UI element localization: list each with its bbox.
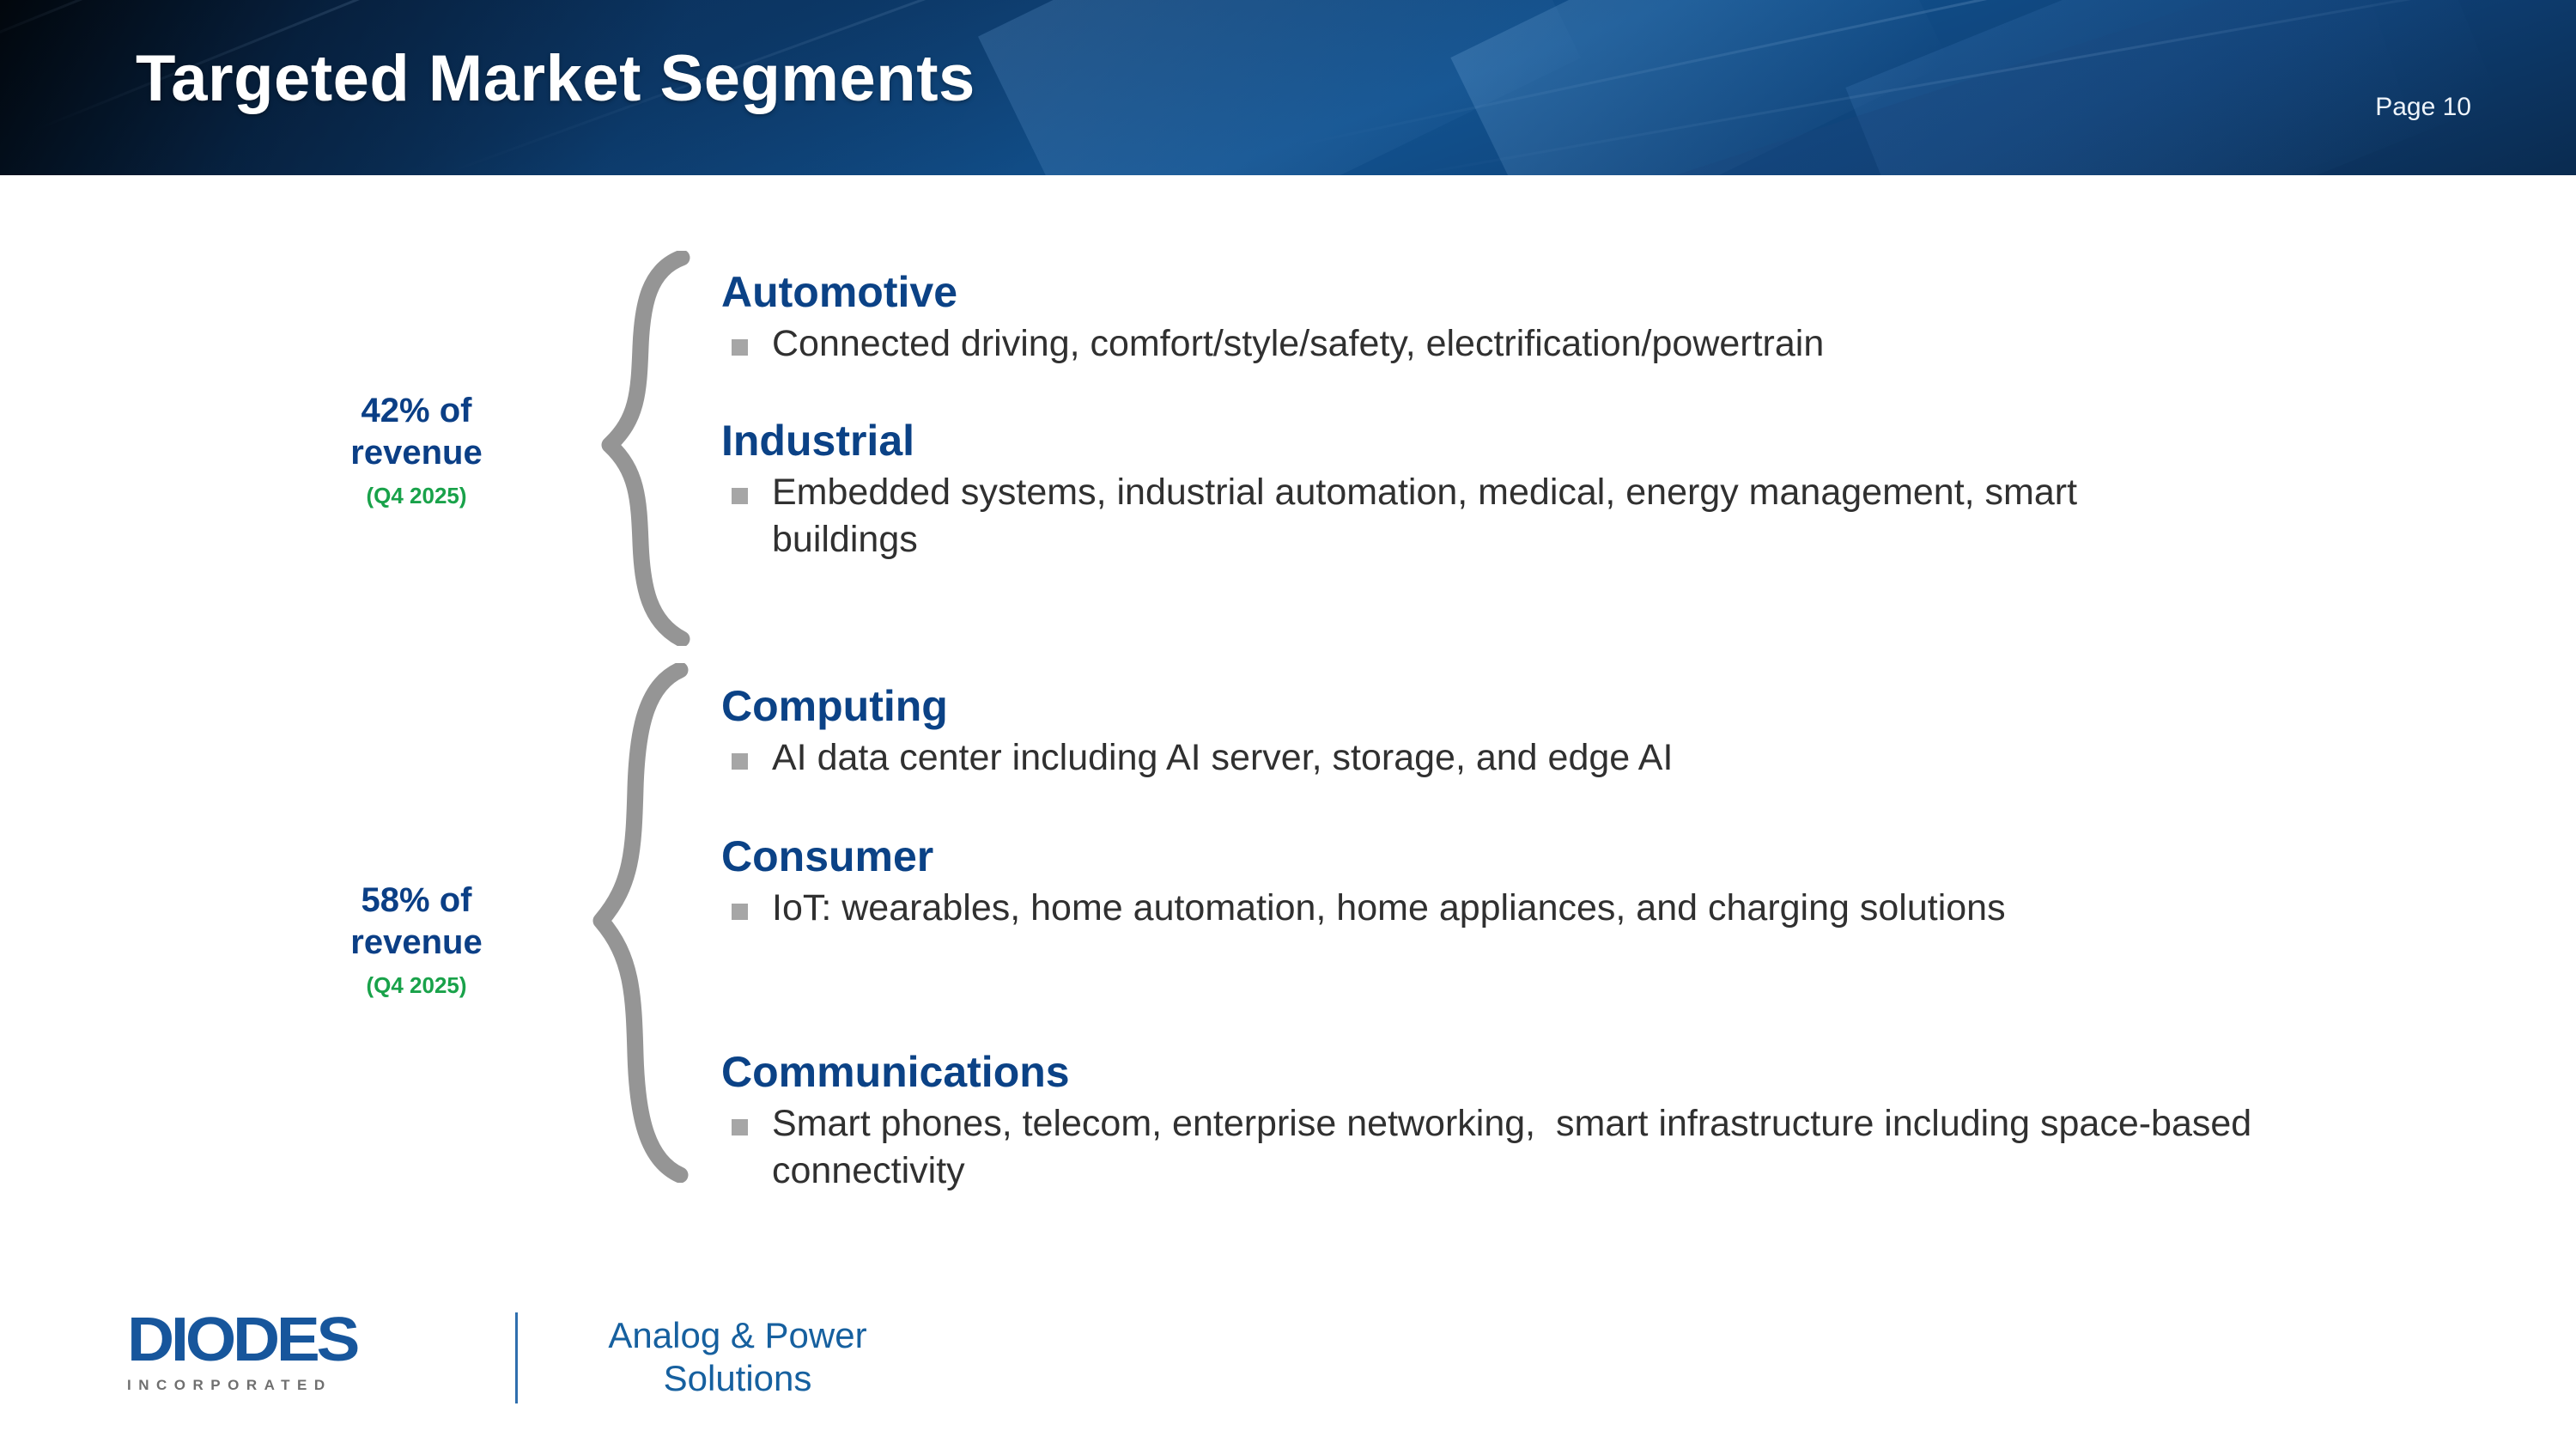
segment-computing: Computing AI data center including AI se… bbox=[721, 684, 2456, 794]
slide-body: 42% of revenue (Q4 2025) 58% of revenue … bbox=[0, 175, 2576, 1283]
segment-industrial-bullet: Embedded systems, industrial automation,… bbox=[721, 469, 2456, 563]
diodes-logo-wordmark: DIODES bbox=[127, 1311, 509, 1370]
revenue-group-2-percent: 58% of bbox=[262, 880, 571, 922]
curly-brace-icon bbox=[592, 251, 696, 646]
segment-automotive-heading: Automotive bbox=[721, 270, 2456, 315]
curly-brace-icon bbox=[584, 663, 696, 1183]
diodes-logo: DIODES INCORPORATED bbox=[127, 1311, 488, 1394]
segment-consumer: Consumer IoT: wearables, home automation… bbox=[721, 834, 2456, 944]
square-bullet-icon bbox=[732, 904, 748, 920]
segment-automotive-bullet: Connected driving, comfort/style/safety,… bbox=[721, 320, 2456, 368]
header-decor-panel-3 bbox=[1845, 0, 2499, 175]
page-number-label: Page 10 bbox=[2375, 93, 2471, 122]
company-tagline-line1: Analog & Power bbox=[553, 1314, 922, 1357]
segment-industrial: Industrial Embedded systems, industrial … bbox=[721, 418, 2456, 575]
revenue-group-1-percent: 42% of bbox=[262, 390, 571, 432]
header-decor-panel-2 bbox=[1450, 0, 1949, 175]
segment-industrial-bullet-text: Embedded systems, industrial automation,… bbox=[772, 469, 2172, 563]
revenue-group-2-percent-line2: revenue bbox=[262, 922, 571, 964]
square-bullet-icon bbox=[732, 339, 748, 356]
segment-computing-bullet: AI data center including AI server, stor… bbox=[721, 734, 2456, 782]
segment-communications: Communications Smart phones, telecom, en… bbox=[721, 1050, 2456, 1207]
revenue-group-2-label: 58% of revenue (Q4 2025) bbox=[262, 880, 571, 999]
segment-automotive-bullet-text: Connected driving, comfort/style/safety,… bbox=[772, 320, 2456, 368]
segment-communications-bullet-text: Smart phones, telecom, enterprise networ… bbox=[772, 1100, 2386, 1195]
square-bullet-icon bbox=[732, 488, 748, 504]
page-title: Targeted Market Segments bbox=[136, 41, 975, 116]
footer-divider bbox=[515, 1312, 518, 1403]
segment-computing-bullet-text: AI data center including AI server, stor… bbox=[772, 734, 2456, 782]
company-tagline: Analog & Power Solutions bbox=[553, 1314, 922, 1399]
header-decor-panel-1 bbox=[978, 0, 1581, 175]
revenue-group-1-label: 42% of revenue (Q4 2025) bbox=[262, 390, 571, 509]
segment-consumer-heading: Consumer bbox=[721, 834, 2456, 880]
segment-industrial-heading: Industrial bbox=[721, 418, 2456, 464]
segment-computing-heading: Computing bbox=[721, 684, 2456, 729]
revenue-group-2-quarter: (Q4 2025) bbox=[262, 972, 571, 999]
segment-communications-heading: Communications bbox=[721, 1050, 2456, 1095]
header-decor-panel-4 bbox=[1621, 0, 2415, 175]
header-decor-streak-5 bbox=[1374, 0, 2576, 175]
segment-consumer-bullet-text: IoT: wearables, home automation, home ap… bbox=[772, 885, 2326, 932]
company-tagline-line2: Solutions bbox=[553, 1357, 922, 1400]
segment-automotive: Automotive Connected driving, comfort/st… bbox=[721, 270, 2456, 380]
square-bullet-icon bbox=[732, 1119, 748, 1135]
segment-communications-bullet: Smart phones, telecom, enterprise networ… bbox=[721, 1100, 2456, 1195]
slide-header-banner: Targeted Market Segments Page 10 bbox=[0, 0, 2576, 175]
square-bullet-icon bbox=[732, 753, 748, 770]
segment-consumer-bullet: IoT: wearables, home automation, home ap… bbox=[721, 885, 2456, 932]
diodes-logo-subtext: INCORPORATED bbox=[127, 1377, 488, 1394]
slide-footer: DIODES INCORPORATED Analog & Power Solut… bbox=[0, 1283, 2576, 1449]
header-decor-streak-4 bbox=[1288, 0, 2576, 149]
revenue-group-1-percent-line2: revenue bbox=[262, 432, 571, 474]
revenue-group-1-quarter: (Q4 2025) bbox=[262, 483, 571, 509]
